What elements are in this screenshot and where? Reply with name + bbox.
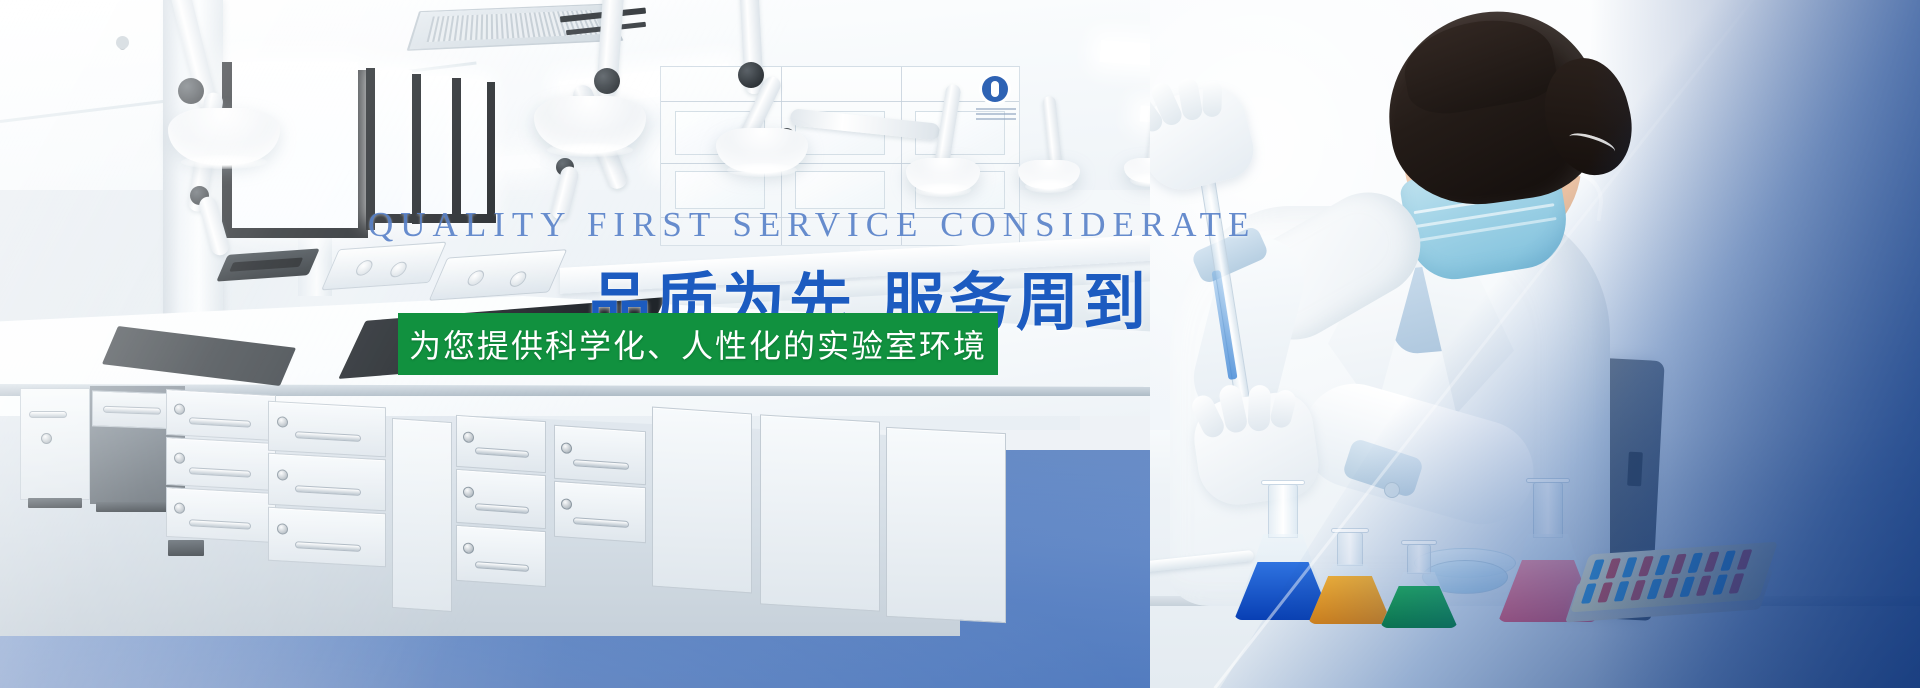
subtitle-green-banner: 为您提供科学化、人性化的实验室环境 [398,313,998,375]
hero-banner: QUALITY FIRST SERVICE CONSIDERATE 品质为先 服… [0,0,1920,688]
english-tagline: QUALITY FIRST SERVICE CONSIDERATE [368,205,1268,245]
text-overlay: QUALITY FIRST SERVICE CONSIDERATE 品质为先 服… [0,0,1920,688]
subtitle-text: 为您提供科学化、人性化的实验室环境 [409,321,987,367]
